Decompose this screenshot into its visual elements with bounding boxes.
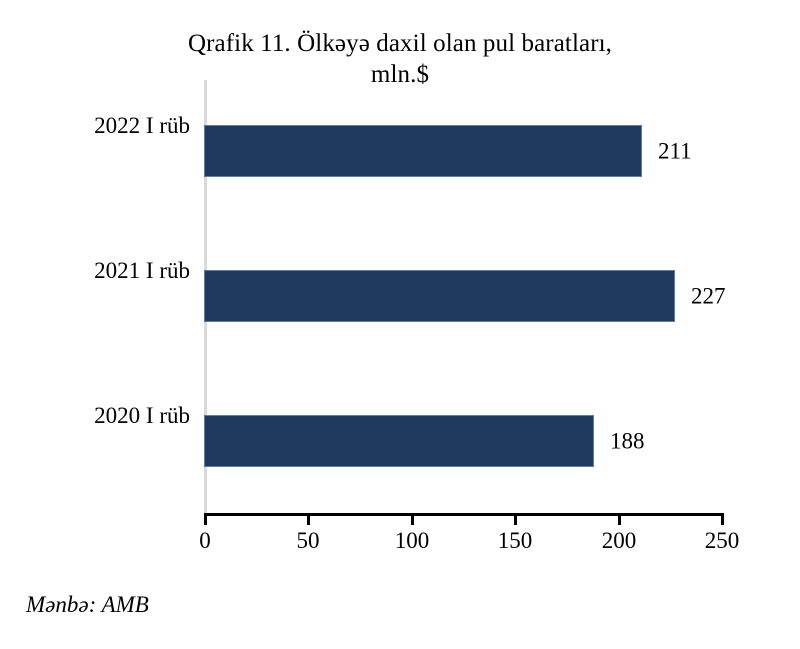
category-axis-labels: 2022 I rüb 2021 I rüb 2020 I rüb (0, 80, 190, 514)
category-label-2021: 2021 I rüb (0, 259, 190, 282)
bar-value-2021: 227 (691, 285, 726, 308)
bar-2021[interactable] (204, 270, 675, 322)
x-tick-200 (618, 513, 621, 525)
plot-area: 211 227 188 (204, 80, 723, 514)
x-tick-label-0: 0 (199, 529, 211, 553)
x-tick-0 (204, 513, 207, 525)
x-tick-label-150: 150 (498, 529, 533, 553)
x-tick-100 (411, 513, 414, 525)
category-label-2020: 2020 I rüb (0, 404, 190, 427)
x-axis-line (204, 513, 724, 516)
bar-value-2020: 188 (610, 430, 645, 453)
x-tick-50 (307, 513, 310, 525)
bar-2020[interactable] (204, 415, 594, 467)
x-tick-label-200: 200 (602, 529, 637, 553)
source-note: Mənbə: AMB (26, 592, 149, 618)
x-tick-label-250: 250 (705, 529, 740, 553)
category-label-2022: 2022 I rüb (0, 114, 190, 137)
chart-title-line-1: Qrafik 11. Ölkəyə daxil olan pul baratla… (80, 28, 720, 59)
x-tick-label-50: 50 (297, 529, 320, 553)
x-tick-label-100: 100 (395, 529, 430, 553)
chart-figure: Qrafik 11. Ölkəyə daxil olan pul baratla… (0, 0, 800, 649)
bar-2022[interactable] (204, 125, 642, 177)
bar-value-2022: 211 (658, 140, 692, 163)
x-tick-150 (514, 513, 517, 525)
x-tick-250 (721, 513, 724, 525)
